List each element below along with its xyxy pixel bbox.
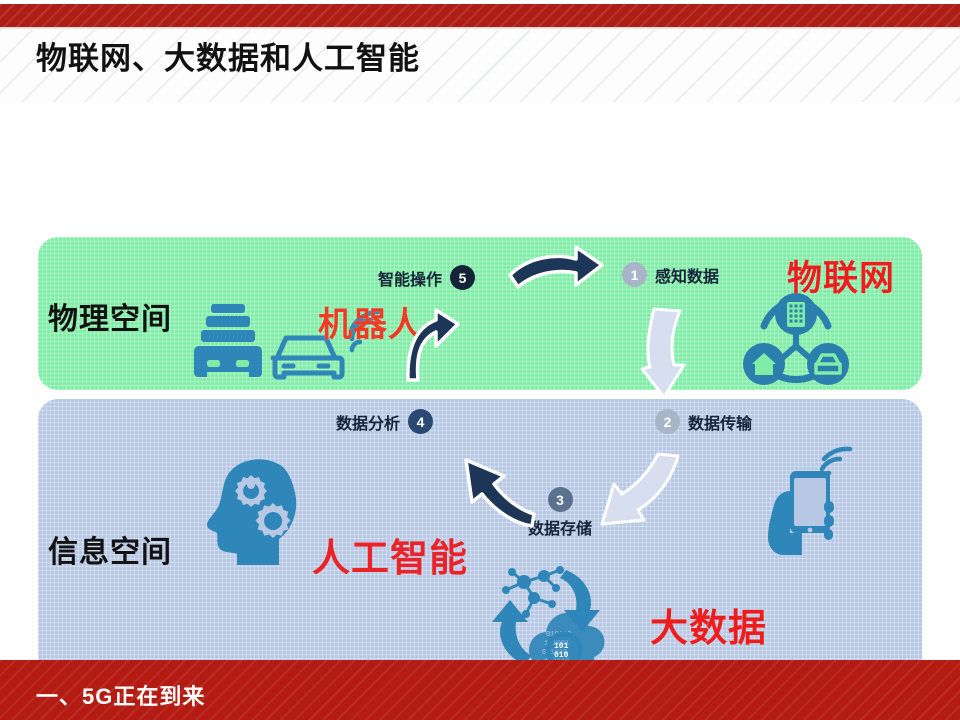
iot-network-icon: [742, 290, 850, 386]
page-title: 物联网、大数据和人工智能: [36, 40, 420, 77]
step-4-number: 4: [408, 409, 433, 434]
svg-text:010: 010: [554, 651, 569, 660]
step-4-label: 数据分析: [336, 410, 400, 434]
svg-text:101: 101: [554, 642, 569, 651]
step-1-sense-data: 1 感知数据: [622, 262, 719, 287]
step-3-label: 数据存储: [528, 515, 592, 539]
hand-holding-phone-icon: [760, 447, 852, 557]
arrow-upleft-dark: [440, 454, 536, 530]
arrow-right-dark: [508, 245, 604, 291]
step-5-label: 智能操作: [378, 266, 442, 290]
step-3-number: 3: [548, 487, 573, 512]
step-2-label: 数据传输: [688, 410, 752, 434]
step-3-data-storage: 3 数据存储: [528, 487, 592, 539]
arrow-up-dark: [406, 310, 464, 382]
physical-space-label: 物理空间: [48, 294, 172, 338]
slide-body: 物理空间: [0, 102, 960, 656]
step-5-intelligent-operation: 智能操作 5: [378, 265, 475, 290]
head-with-gears-icon: [205, 457, 301, 567]
big-data-topic-label: 大数据: [650, 597, 767, 652]
step-5-number: 5: [450, 265, 475, 290]
step-1-number: 1: [622, 262, 647, 287]
step-2-data-transmission: 2 数据传输: [655, 409, 752, 434]
step-2-number: 2: [655, 409, 680, 434]
truck-icon: [195, 302, 261, 380]
step-4-data-analysis: 数据分析 4: [336, 409, 433, 434]
slide-root: 物联网、大数据和人工智能 物理空间: [0, 0, 960, 720]
step-1-label: 感知数据: [655, 263, 719, 287]
arrow-down-light: [640, 307, 698, 399]
iot-topic-label: 物联网: [787, 250, 895, 301]
top-red-bar: [0, 4, 960, 27]
ai-accent-label: 人工智能: [312, 527, 468, 582]
footer-section-label: 一、5G正在到来: [36, 679, 205, 711]
arrow-downleft-light: [588, 454, 684, 530]
information-space-label: 信息空间: [48, 527, 172, 571]
